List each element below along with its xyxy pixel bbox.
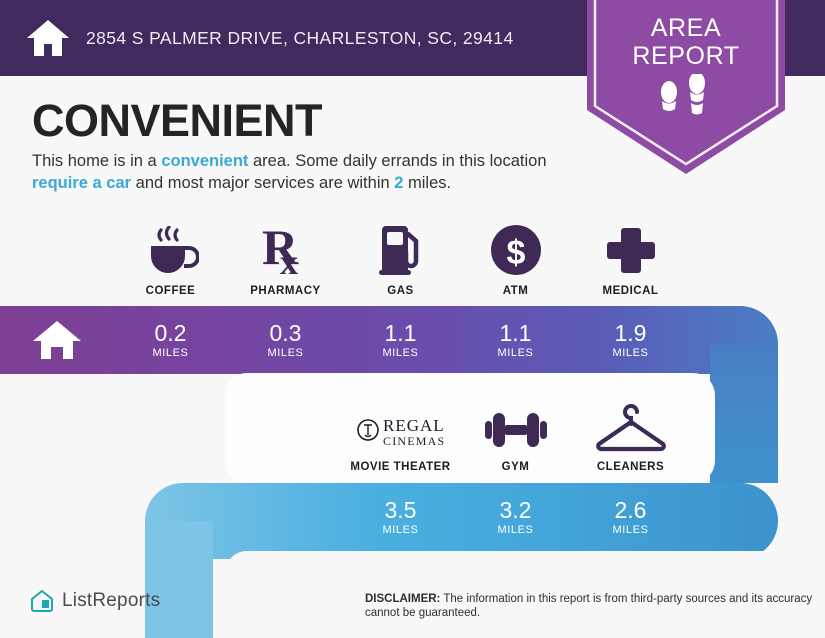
- distance-value: 0.2: [155, 321, 187, 345]
- distance-value: 2.6: [615, 498, 647, 522]
- distance-value: 0.3: [270, 321, 302, 345]
- distance-gym: 3.2 MILES: [458, 483, 573, 551]
- page-title: CONVENIENT: [32, 95, 322, 147]
- area-report-page: 2854 S PALMER DRIVE, CHARLESTON, SC, 294…: [0, 0, 825, 638]
- category-gas: GAS: [343, 222, 458, 297]
- category-coffee: COFFEE: [113, 222, 228, 297]
- dumbbell-icon: [485, 398, 547, 452]
- medical-cross-icon: [606, 222, 656, 276]
- disclaimer-label: DISCLAIMER:: [365, 593, 440, 605]
- distance-unit: MILES: [612, 524, 648, 536]
- category-label: MOVIE THEATER: [350, 461, 450, 473]
- distance-unit: MILES: [267, 347, 303, 359]
- distance-medical: 1.9 MILES: [573, 306, 688, 374]
- distance-unit: MILES: [497, 347, 533, 359]
- property-address: 2854 S PALMER DRIVE, CHARLESTON, SC, 294…: [86, 28, 514, 49]
- atm-dollar-icon: $: [490, 222, 542, 276]
- category-label: GYM: [502, 461, 530, 473]
- category-atm: $ ATM: [458, 222, 573, 297]
- category-medical: MEDICAL: [573, 222, 688, 297]
- rx-pharmacy-icon: R x: [262, 222, 310, 276]
- distance-value: 1.9: [615, 321, 647, 345]
- regal-cinemas-logo: REGAL CINEMAS: [355, 398, 447, 452]
- category-label: PHARMACY: [250, 285, 320, 297]
- svg-text:x: x: [280, 242, 298, 276]
- badge-title-line2: REPORT: [587, 42, 785, 70]
- distance-unit: MILES: [152, 347, 188, 359]
- distance-unit: MILES: [382, 524, 418, 536]
- distance-unit: MILES: [612, 347, 648, 359]
- summary-highlight-2: require a car: [32, 174, 131, 192]
- category-cleaners: CLEANERS: [573, 398, 688, 473]
- row1-distance-strip: 0.2 MILES 0.3 MILES 1.1 MILES 1.1 MILES …: [113, 306, 688, 374]
- category-label: COFFEE: [146, 285, 196, 297]
- distance-value: 1.1: [500, 321, 532, 345]
- area-report-badge: AREA REPORT: [587, 0, 785, 174]
- row1-icon-strip: COFFEE R x PHARMACY GAS: [113, 222, 688, 297]
- svg-text:$: $: [506, 234, 525, 272]
- home-marker-cell: [0, 306, 113, 374]
- category-label: MEDICAL: [603, 285, 659, 297]
- svg-text:CINEMAS: CINEMAS: [383, 434, 445, 448]
- row2-icon-strip: REGAL CINEMAS MOVIE THEATER GYM: [343, 398, 688, 473]
- category-label: CLEANERS: [597, 461, 664, 473]
- summary-part-3: and most major services are within: [131, 174, 394, 192]
- listreports-logo[interactable]: ListReports: [30, 589, 160, 613]
- listreports-house-icon: [30, 589, 54, 613]
- category-pharmacy: R x PHARMACY: [228, 222, 343, 297]
- category-label: ATM: [503, 285, 529, 297]
- summary-part-1: This home is in a: [32, 152, 161, 170]
- distance-value: 3.2: [500, 498, 532, 522]
- summary-text: This home is in a convenient area. Some …: [32, 150, 592, 194]
- summary-part-4: miles.: [403, 174, 451, 192]
- footprints-icon: [655, 74, 717, 118]
- category-gym: GYM: [458, 398, 573, 473]
- category-label: GAS: [387, 285, 413, 297]
- distance-cleaners: 2.6 MILES: [573, 483, 688, 551]
- distance-pharmacy: 0.3 MILES: [228, 306, 343, 374]
- distance-movie-theater: 3.5 MILES: [343, 483, 458, 551]
- badge-title-line1: AREA: [587, 14, 785, 42]
- row2-distance-strip: 3.5 MILES 3.2 MILES 2.6 MILES: [343, 483, 688, 551]
- distance-gas: 1.1 MILES: [343, 306, 458, 374]
- distance-atm: 1.1 MILES: [458, 306, 573, 374]
- category-movie-theater: REGAL CINEMAS MOVIE THEATER: [343, 398, 458, 473]
- distance-unit: MILES: [497, 524, 533, 536]
- distance-coffee: 0.2 MILES: [113, 306, 228, 374]
- coffee-cup-icon: [143, 222, 199, 276]
- disclaimer: DISCLAIMER: The information in this repo…: [365, 592, 815, 620]
- summary-highlight-1: convenient: [161, 152, 248, 170]
- distance-value: 1.1: [385, 321, 417, 345]
- home-icon: [26, 18, 70, 58]
- distance-value: 3.5: [385, 498, 417, 522]
- badge-title: AREA REPORT: [587, 14, 785, 70]
- svg-text:REGAL: REGAL: [383, 416, 445, 435]
- gas-pump-icon: [378, 222, 424, 276]
- clothes-hanger-icon: [594, 398, 668, 452]
- listreports-logo-text: ListReports: [62, 590, 160, 612]
- summary-part-2: area. Some daily errands in this locatio…: [248, 152, 546, 170]
- distance-unit: MILES: [382, 347, 418, 359]
- home-icon: [31, 318, 83, 362]
